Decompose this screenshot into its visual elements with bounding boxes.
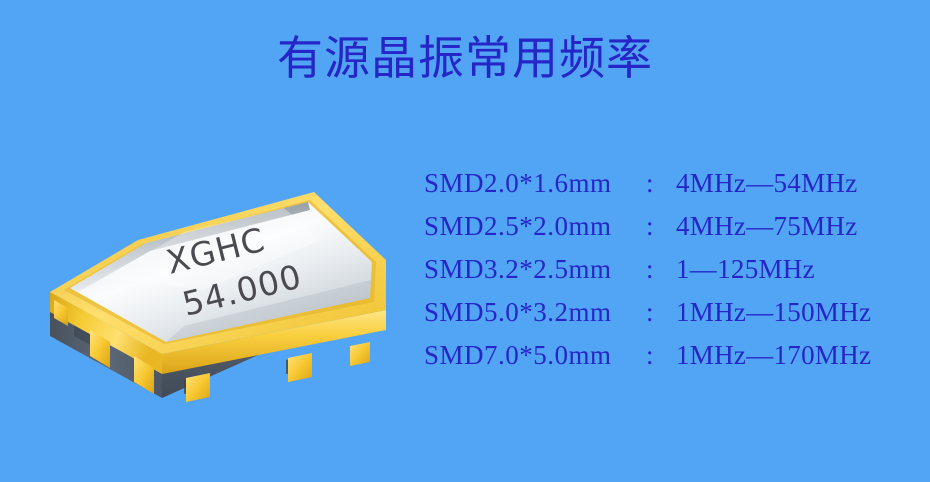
poster-canvas: 有源晶振常用频率 [0,0,930,482]
spec-row: SMD2.5*2.0mm : 4MHz—75MHz [424,205,904,248]
spec-frequency-range: 1—125MHz [676,248,904,291]
page-title: 有源晶振常用频率 [0,30,930,86]
spec-separator: : [646,248,676,291]
spec-frequency-range: 4MHz—75MHz [676,205,904,248]
spec-separator: : [646,205,676,248]
spec-separator: : [646,291,676,334]
spec-separator: : [646,334,676,377]
spec-row: SMD5.0*3.2mm : 1MHz—150MHz [424,291,904,334]
spec-package-size: SMD3.2*2.5mm [424,248,646,291]
spec-package-size: SMD5.0*3.2mm [424,291,646,334]
spec-frequency-range: 4MHz—54MHz [676,162,904,205]
crystal-oscillator-image: XGHC 54.000 [34,140,414,405]
spec-frequency-range: 1MHz—170MHz [676,334,904,377]
spec-frequency-range: 1MHz—150MHz [676,291,904,334]
spec-package-size: SMD2.5*2.0mm [424,205,646,248]
spec-separator: : [646,162,676,205]
spec-package-size: SMD7.0*5.0mm [424,334,646,377]
spec-row: SMD3.2*2.5mm : 1—125MHz [424,248,904,291]
frequency-spec-list: SMD2.0*1.6mm : 4MHz—54MHz SMD2.5*2.0mm :… [424,162,904,377]
spec-row: SMD2.0*1.6mm : 4MHz—54MHz [424,162,904,205]
spec-package-size: SMD2.0*1.6mm [424,162,646,205]
spec-row: SMD7.0*5.0mm : 1MHz—170MHz [424,334,904,377]
